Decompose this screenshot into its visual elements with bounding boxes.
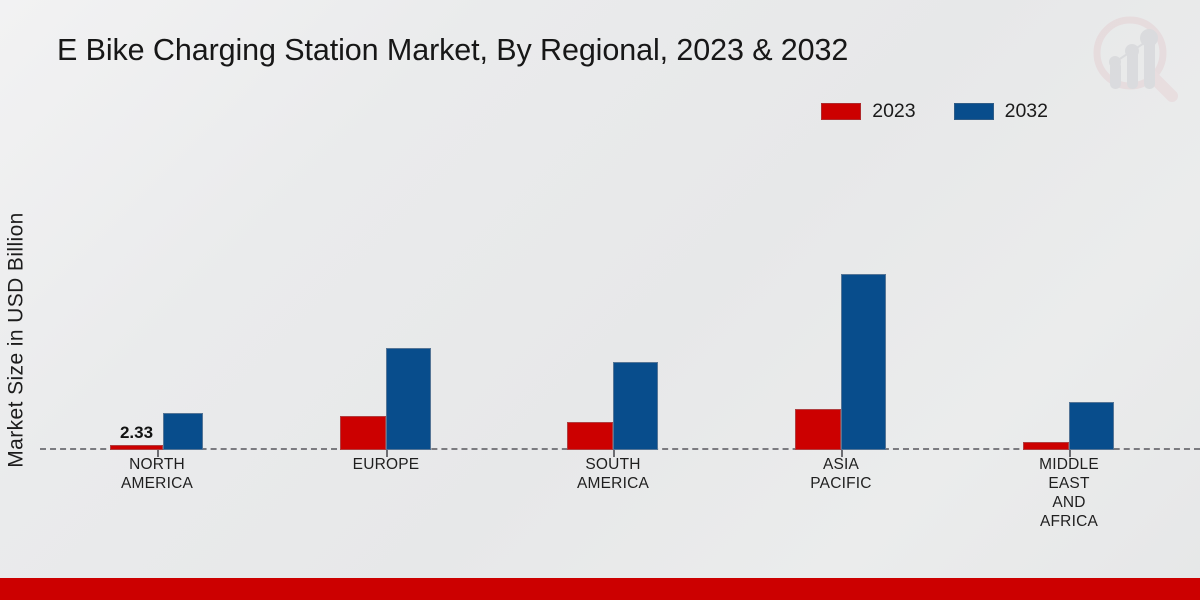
- chart-title: E Bike Charging Station Market, By Regio…: [57, 33, 848, 68]
- bar-north-america-2023[interactable]: 2.33: [110, 445, 163, 450]
- bar-north-america-2032[interactable]: [163, 413, 203, 450]
- cat-line: EAST: [1009, 474, 1129, 493]
- legend-swatch-2023: [821, 103, 861, 120]
- chart-canvas: E Bike Charging Station Market, By Regio…: [0, 0, 1200, 600]
- chart-legend: 2023 2032: [821, 102, 1048, 122]
- x-axis-label-europe: EUROPE: [326, 455, 446, 474]
- bar-middle-east-and-africa-2023[interactable]: [1023, 442, 1069, 450]
- legend-swatch-2032: [954, 103, 994, 120]
- x-axis-label-middle-east-and-africa: MIDDLE EAST AND AFRICA: [1009, 455, 1129, 531]
- cat-line: AMERICA: [97, 474, 217, 493]
- cat-line: AMERICA: [553, 474, 673, 493]
- legend-label-2023: 2023: [872, 102, 915, 122]
- y-axis-title-text: Market Size in USD Billion: [5, 212, 29, 467]
- bar-europe-2032[interactable]: [386, 348, 431, 450]
- x-axis-label-south-america: SOUTH AMERICA: [553, 455, 673, 493]
- cat-line: NORTH: [97, 455, 217, 474]
- x-axis-label-asia-pacific: ASIA PACIFIC: [781, 455, 901, 493]
- legend-item-2032[interactable]: 2032: [954, 102, 1048, 122]
- legend-item-2023[interactable]: 2023: [821, 102, 915, 122]
- cat-line: AND: [1009, 493, 1129, 512]
- footer-accent-bar: [0, 578, 1200, 600]
- bar-south-america-2023[interactable]: [567, 422, 613, 450]
- cat-line: SOUTH: [553, 455, 673, 474]
- cat-line: EUROPE: [326, 455, 446, 474]
- bar-asia-pacific-2023[interactable]: [795, 409, 841, 450]
- legend-label-2032: 2032: [1005, 102, 1048, 122]
- bar-value-north-america-2023: 2.33: [120, 423, 153, 443]
- bar-south-america-2032[interactable]: [613, 362, 658, 450]
- watermark-logo-icon: [1082, 6, 1186, 110]
- cat-line: ASIA: [781, 455, 901, 474]
- bar-europe-2023[interactable]: [340, 416, 386, 450]
- plot-area: 2.33: [40, 150, 1200, 450]
- x-axis-label-north-america: NORTH AMERICA: [97, 455, 217, 493]
- bar-middle-east-and-africa-2032[interactable]: [1069, 402, 1114, 450]
- cat-line: PACIFIC: [781, 474, 901, 493]
- cat-line: AFRICA: [1009, 512, 1129, 531]
- bar-asia-pacific-2032[interactable]: [841, 274, 886, 450]
- y-axis-title: Market Size in USD Billion: [0, 175, 34, 505]
- cat-line: MIDDLE: [1009, 455, 1129, 474]
